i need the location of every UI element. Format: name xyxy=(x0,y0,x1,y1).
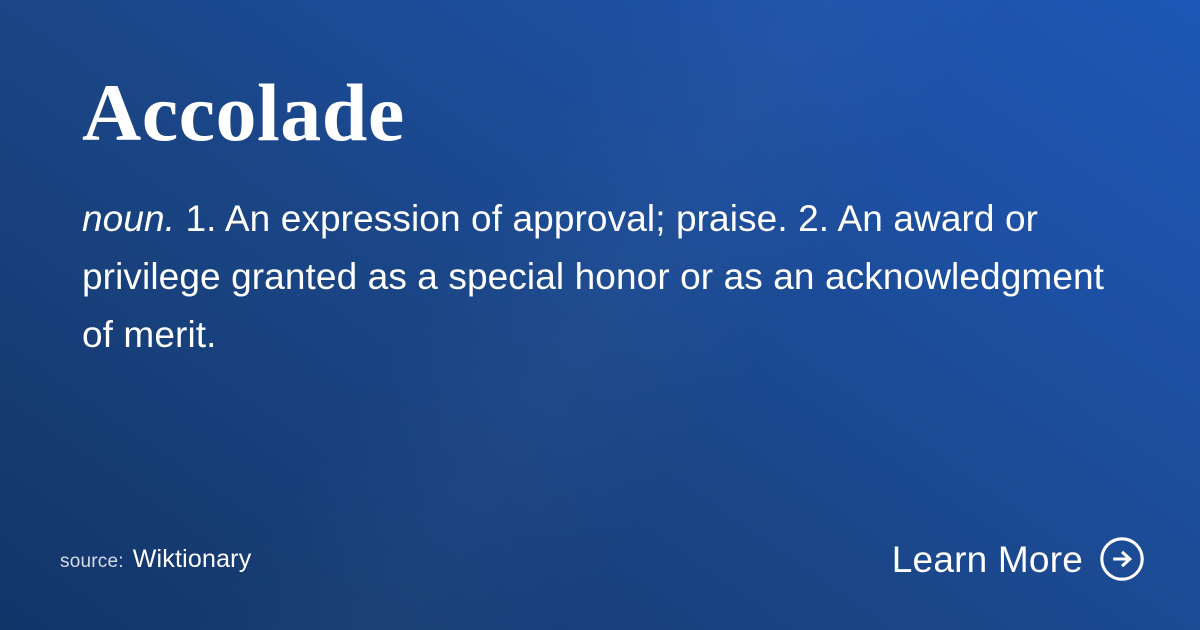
learn-more-button[interactable]: Learn More xyxy=(892,536,1145,582)
arrow-right-circle-icon xyxy=(1099,536,1145,582)
definition-body xyxy=(175,198,185,239)
definition-text: noun. 1. An expression of approval; prai… xyxy=(82,190,1128,364)
headword: Accolade xyxy=(82,72,405,154)
learn-more-label: Learn More xyxy=(892,541,1083,578)
source-name: Wiktionary xyxy=(133,545,252,574)
part-of-speech-label: noun. xyxy=(82,198,175,239)
definition-senses: 1. An expression of approval; praise. 2.… xyxy=(82,198,1104,355)
card-content: Accolade noun. 1. An expression of appro… xyxy=(0,0,1200,630)
source-attribution: source: Wiktionary xyxy=(60,545,251,574)
word-of-the-day-card: Accolade noun. 1. An expression of appro… xyxy=(0,0,1200,630)
source-label: source: xyxy=(60,551,124,573)
